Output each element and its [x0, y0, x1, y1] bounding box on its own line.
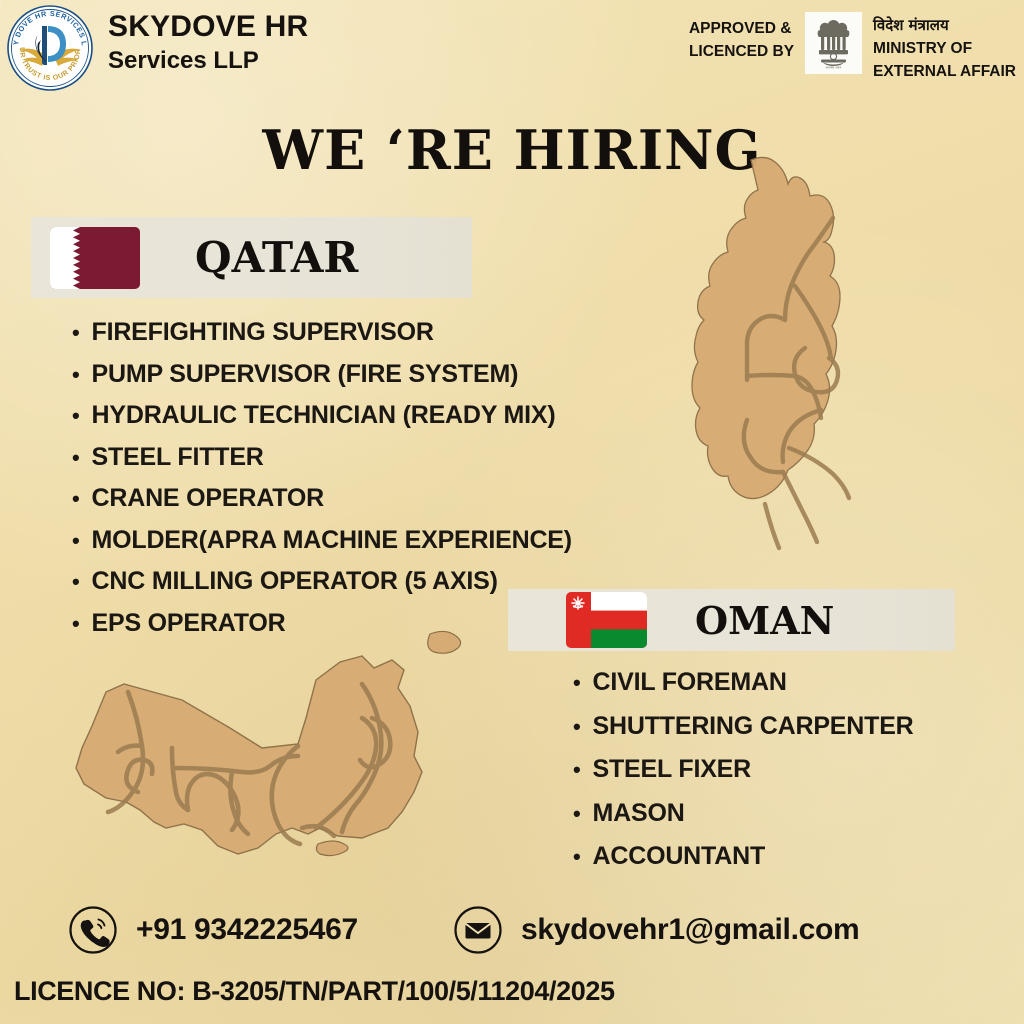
list-item: •PUMP SUPERVISOR (FIRE SYSTEM): [72, 360, 572, 389]
approved-by-line2: LICENCED BY: [689, 40, 794, 63]
list-item: •CNC MILLING OPERATOR (5 AXIS): [72, 567, 572, 596]
phone-icon: [68, 905, 118, 955]
bullet-icon: •: [72, 364, 80, 386]
ministry-line1: MINISTRY OF: [873, 37, 1016, 61]
list-item: •STEEL FITTER: [72, 443, 572, 472]
bullet-icon: •: [573, 846, 581, 868]
list-item: •ACCOUNTANT: [573, 842, 914, 871]
phone-number: +91 9342225467: [136, 913, 358, 947]
skydove-circular-logo: SKY DOVE HR SERVICES LLP YOUR TRUST IS O…: [6, 4, 94, 92]
qatar-flag-icon: [50, 227, 140, 289]
approval-block: APPROVED & LICENCED BY: [689, 12, 1016, 84]
job-list-oman: •CIVIL FOREMAN •SHUTTERING CARPENTER •ST…: [573, 668, 914, 886]
job-title: STEEL FIXER: [593, 755, 751, 784]
list-item: •MOLDER(APRA MACHINE EXPERIENCE): [72, 526, 572, 555]
qatar-map-silhouette: [655, 152, 905, 592]
list-item: •STEEL FIXER: [573, 755, 914, 784]
contact-phone[interactable]: +91 9342225467: [68, 905, 358, 955]
job-title: HYDRAULIC TECHNICIAN (READY MIX): [92, 401, 556, 430]
list-item: •CIVIL FOREMAN: [573, 668, 914, 697]
bullet-icon: •: [573, 759, 581, 781]
approved-by-line1: APPROVED &: [689, 17, 794, 40]
oman-flag-icon: [566, 592, 647, 648]
email-icon: [453, 905, 503, 955]
list-item: •CRANE OPERATOR: [72, 484, 572, 513]
brand-block: SKYDOVE HR Services LLP: [108, 10, 308, 76]
country-header-oman: OMAN: [508, 589, 955, 651]
svg-text:सत्यमेव जयते: सत्यमेव जयते: [826, 65, 841, 69]
bullet-icon: •: [72, 447, 80, 469]
brand-name-line1: SKYDOVE HR: [108, 10, 308, 43]
bullet-icon: •: [72, 488, 80, 510]
bullet-icon: •: [72, 405, 80, 427]
bullet-icon: •: [573, 672, 581, 694]
bullet-icon: •: [573, 803, 581, 825]
oman-map-silhouette: [62, 622, 502, 892]
list-item: •SHUTTERING CARPENTER: [573, 712, 914, 741]
country-header-qatar: QATAR: [31, 217, 472, 298]
job-title: STEEL FITTER: [92, 443, 264, 472]
job-title: CNC MILLING OPERATOR (5 AXIS): [92, 567, 498, 596]
job-title: MASON: [593, 799, 685, 828]
job-title: MOLDER(APRA MACHINE EXPERIENCE): [92, 526, 572, 555]
job-title: SHUTTERING CARPENTER: [593, 712, 914, 741]
email-address: skydovehr1@gmail.com: [521, 913, 859, 947]
list-item: •HYDRAULIC TECHNICIAN (READY MIX): [72, 401, 572, 430]
ministry-line2: EXTERNAL AFFAIR: [873, 60, 1016, 84]
emblem-box: सत्यमेव जयते: [805, 12, 862, 74]
contact-bar: +91 9342225467 skydovehr1@gmail.com: [0, 902, 1024, 968]
list-item: •FIREFIGHTING SUPERVISOR: [72, 318, 572, 347]
ministry-block: विदेश मंत्रालय MINISTRY OF EXTERNAL AFFA…: [873, 12, 1016, 84]
job-list-qatar: •FIREFIGHTING SUPERVISOR •PUMP SUPERVISO…: [72, 318, 572, 650]
hiring-poster: SKY DOVE HR SERVICES LLP YOUR TRUST IS O…: [0, 0, 1024, 1024]
job-title: PUMP SUPERVISOR (FIRE SYSTEM): [92, 360, 519, 389]
bullet-icon: •: [72, 322, 80, 344]
list-item: •MASON: [573, 799, 914, 828]
job-title: FIREFIGHTING SUPERVISOR: [92, 318, 434, 347]
ashoka-lion-capital-emblem: सत्यमेव जयते: [812, 17, 855, 69]
brand-name-line2: Services LLP: [108, 47, 308, 76]
contact-email[interactable]: skydovehr1@gmail.com: [453, 905, 859, 955]
bullet-icon: •: [573, 716, 581, 738]
job-title: CIVIL FOREMAN: [593, 668, 787, 697]
country-name-oman: OMAN: [695, 598, 834, 643]
ministry-hindi: विदेश मंत्रालय: [873, 14, 1016, 37]
job-title: ACCOUNTANT: [593, 842, 766, 871]
bullet-icon: •: [72, 530, 80, 552]
approved-by-label: APPROVED & LICENCED BY: [689, 12, 794, 64]
poster-header: SKY DOVE HR SERVICES LLP YOUR TRUST IS O…: [0, 0, 1024, 100]
country-name-qatar: QATAR: [195, 233, 358, 282]
licence-number: LICENCE NO: B-3205/TN/PART/100/5/11204/2…: [14, 976, 615, 1007]
bullet-icon: •: [72, 571, 80, 593]
job-title: CRANE OPERATOR: [92, 484, 324, 513]
